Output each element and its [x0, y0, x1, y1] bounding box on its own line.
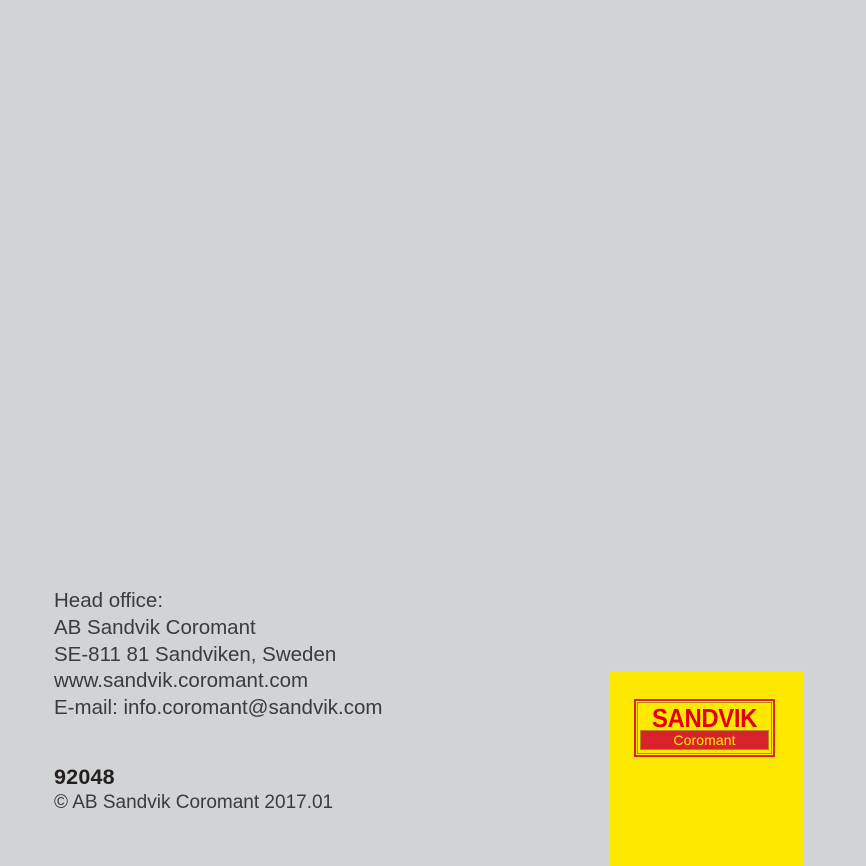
contact-address-block: Head office: AB Sandvik Coromant SE-811 …: [54, 588, 382, 722]
contact-line-head-office: Head office:: [54, 588, 382, 615]
brand-logo-panel: SANDVIK Coromant: [610, 671, 803, 866]
product-code: 92048: [54, 765, 333, 790]
logo-inner-frame: SANDVIK Coromant: [637, 702, 772, 754]
logo-wordmark-coromant: Coromant: [641, 731, 768, 749]
contact-line-website[interactable]: www.sandvik.coromant.com: [54, 668, 382, 695]
back-cover-page: Head office: AB Sandvik Coromant SE-811 …: [0, 0, 866, 866]
contact-line-email[interactable]: E-mail: info.coromant@sandvik.com: [54, 695, 382, 722]
contact-line-company: AB Sandvik Coromant: [54, 615, 382, 642]
copyright-notice: © AB Sandvik Coromant 2017.01: [54, 790, 333, 815]
imprint-block: 92048 © AB Sandvik Coromant 2017.01: [54, 765, 333, 815]
logo-subbar: Coromant: [640, 730, 769, 750]
contact-line-address: SE-811 81 Sandviken, Sweden: [54, 642, 382, 669]
sandvik-coromant-logo: SANDVIK Coromant: [634, 699, 775, 757]
